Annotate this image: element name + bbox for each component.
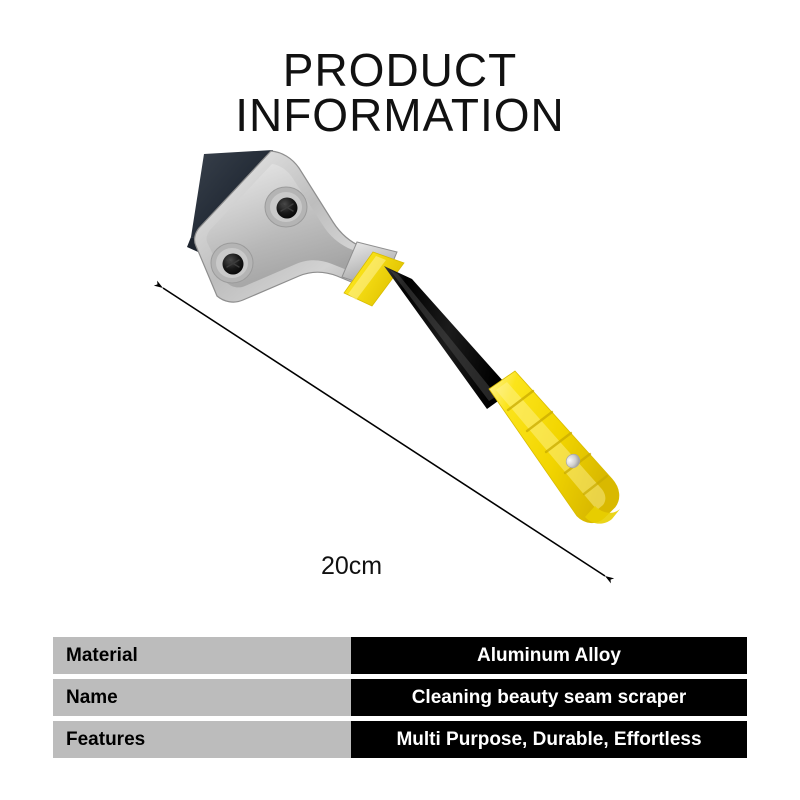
scraper-tool-illustration bbox=[0, 130, 800, 610]
page-title-line-1: PRODUCT bbox=[0, 48, 800, 93]
spec-label-material: Material bbox=[53, 637, 351, 674]
table-row: Features Multi Purpose, Durable, Effortl… bbox=[53, 721, 747, 758]
page-title: PRODUCT INFORMATION bbox=[0, 48, 800, 138]
product-information-page: PRODUCT INFORMATION bbox=[0, 0, 800, 800]
spec-label-features: Features bbox=[53, 721, 351, 758]
table-row: Name Cleaning beauty seam scraper bbox=[53, 679, 747, 716]
spec-value-material: Aluminum Alloy bbox=[351, 637, 747, 674]
yellow-grip-group bbox=[489, 371, 620, 524]
black-shaft-highlight bbox=[390, 270, 497, 401]
product-image: 20cm bbox=[0, 130, 800, 610]
spec-label-name: Name bbox=[53, 679, 351, 716]
table-row: Material Aluminum Alloy bbox=[53, 637, 747, 674]
spec-value-name: Cleaning beauty seam scraper bbox=[351, 679, 747, 716]
spec-value-features: Multi Purpose, Durable, Effortless bbox=[351, 721, 747, 758]
dimension-label: 20cm bbox=[318, 552, 385, 581]
specification-table: Material Aluminum Alloy Name Cleaning be… bbox=[53, 637, 747, 758]
